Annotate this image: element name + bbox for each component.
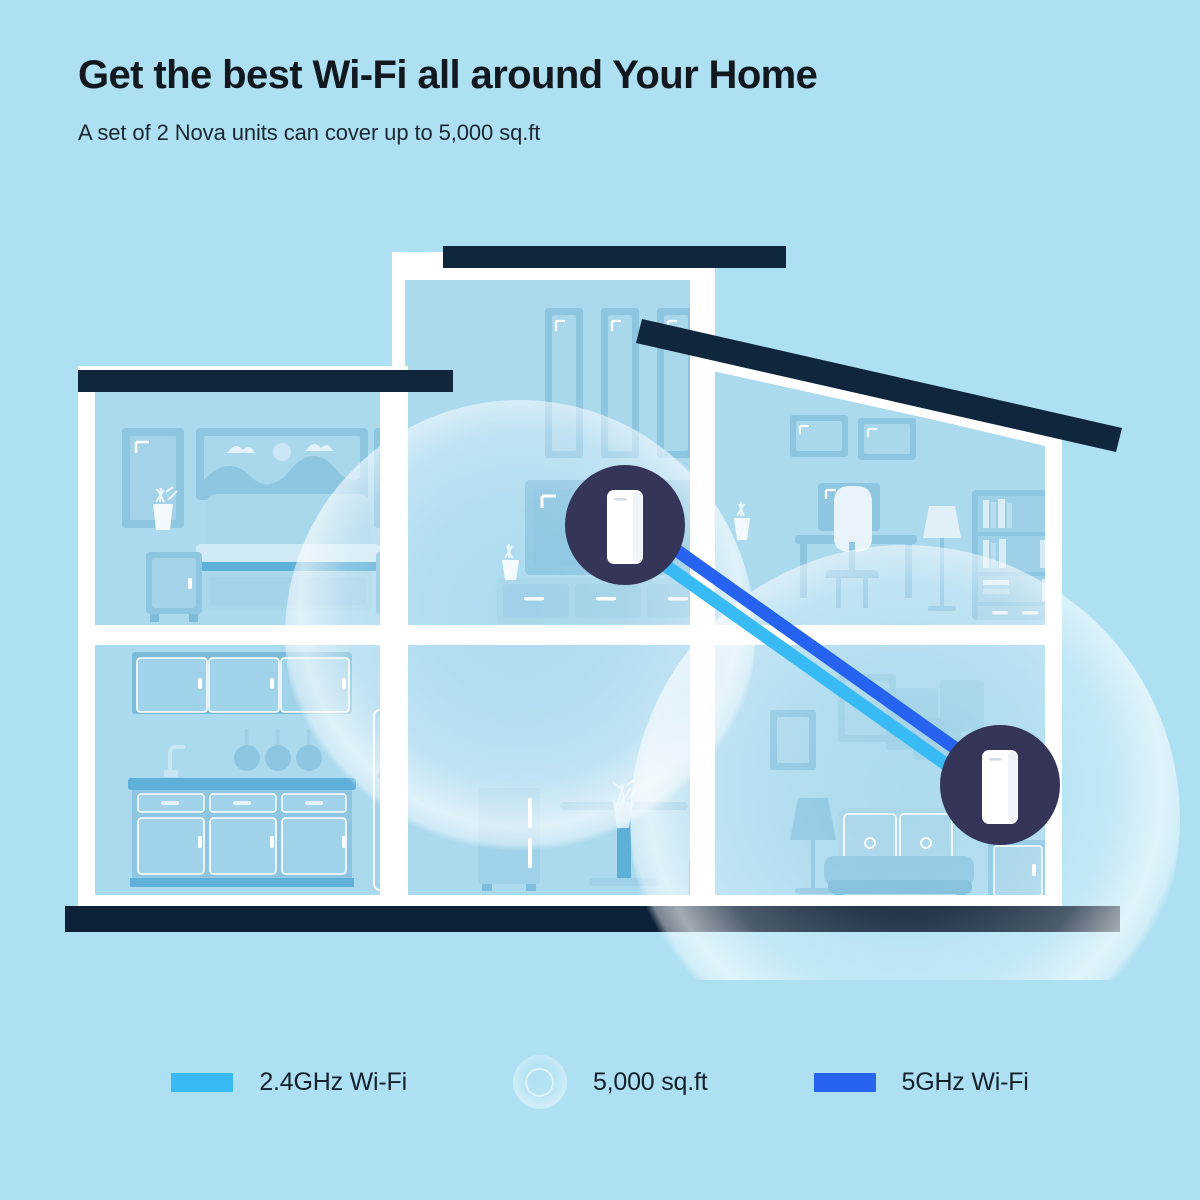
header: Get the best Wi-Fi all around Your Home … [78, 52, 1118, 146]
legend-item-coverage: 5,000 sq.ft [513, 1052, 708, 1112]
house-illustration [0, 180, 1200, 980]
legend-swatch-5ghz [814, 1073, 876, 1092]
roof-center-block [443, 246, 786, 268]
page-title: Get the best Wi-Fi all around Your Home [78, 52, 1118, 98]
roof-left-wing [78, 370, 453, 392]
legend-label-24ghz: 2.4GHz Wi-Fi [259, 1068, 407, 1097]
wifi-coverage-infographic: Get the best Wi-Fi all around Your Home … [0, 0, 1200, 1200]
legend-item-24ghz: 2.4GHz Wi-Fi [171, 1052, 407, 1112]
page-subtitle: A set of 2 Nova units can cover up to 5,… [78, 120, 1118, 146]
coverage-bubble-icon [513, 1055, 567, 1109]
legend-swatch-24ghz [171, 1073, 233, 1092]
nova-unit-downstairs [940, 725, 1060, 845]
nova-unit-upstairs [565, 465, 685, 585]
legend-label-5ghz: 5GHz Wi-Fi [902, 1068, 1029, 1097]
legend-item-5ghz: 5GHz Wi-Fi [814, 1052, 1029, 1112]
legend: 2.4GHz Wi-Fi 5,000 sq.ft 5GHz Wi-Fi [0, 1042, 1200, 1122]
legend-label-coverage: 5,000 sq.ft [593, 1068, 708, 1097]
